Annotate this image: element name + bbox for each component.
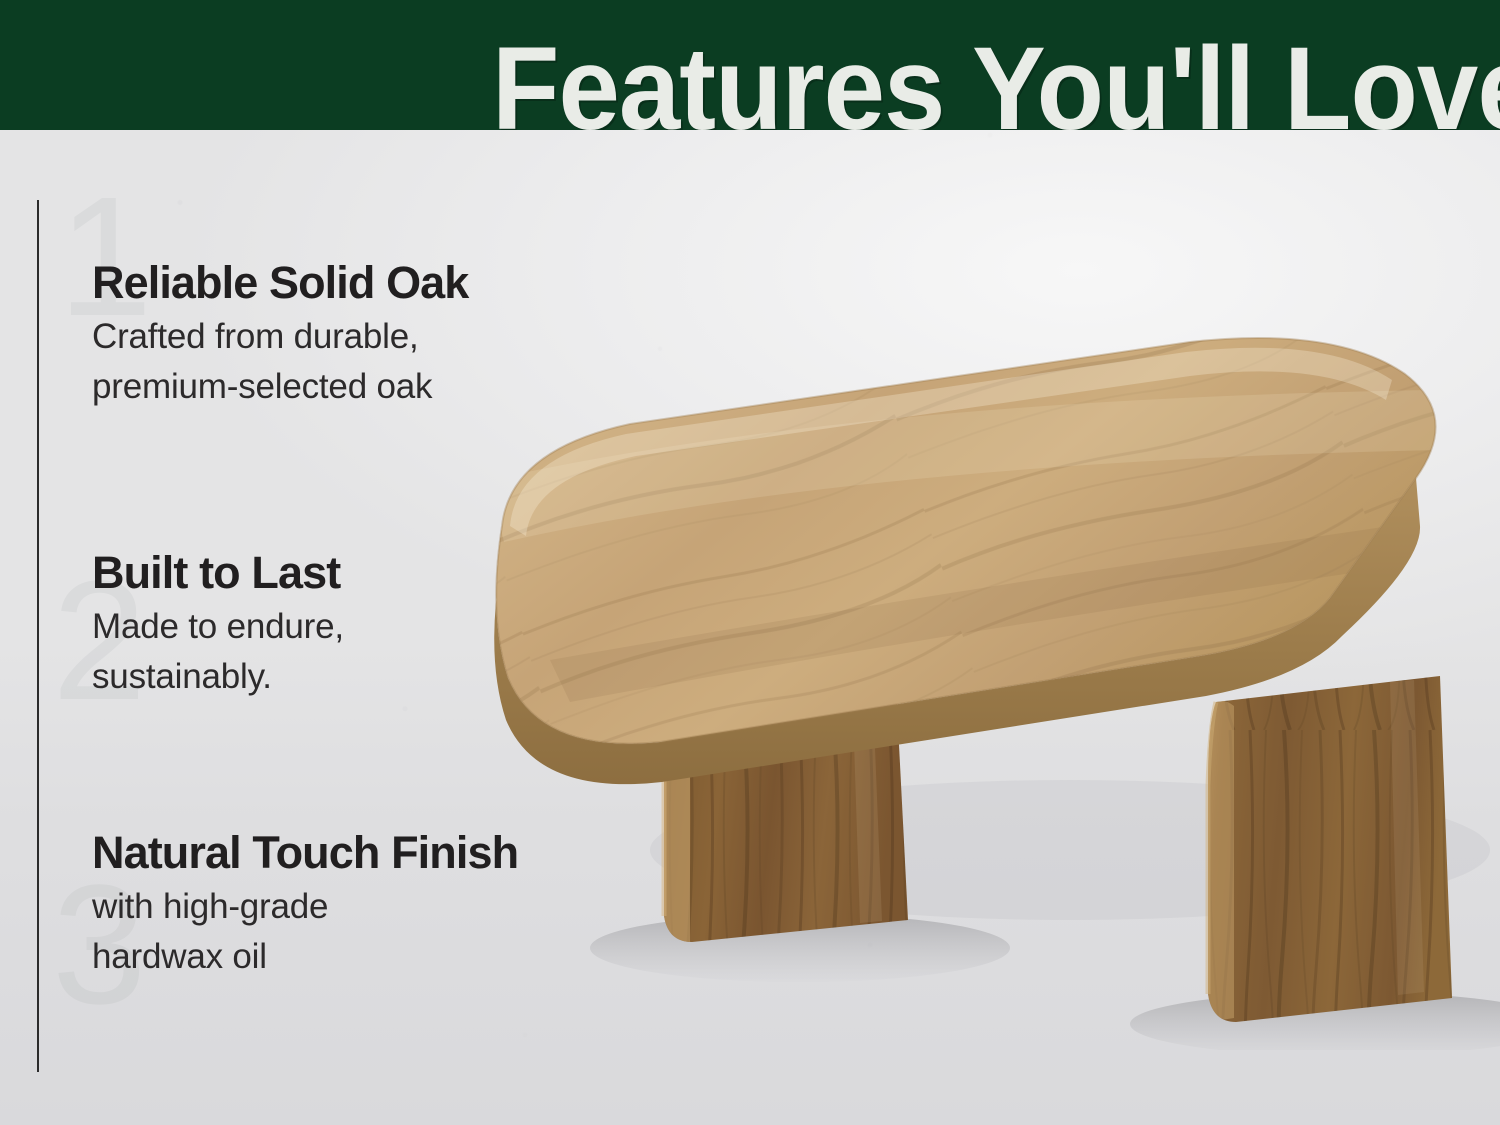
infographic-canvas: 1 2 3 (0, 0, 1500, 1125)
feature-title: Reliable Solid Oak (92, 258, 692, 308)
feature-description: Crafted from durable, premium-selected o… (92, 312, 692, 411)
feature-description: Made to endure, sustainably. (92, 602, 692, 701)
table-leg-right (1200, 670, 1470, 1040)
feature-item-built-to-last: Built to Last Made to endure, sustainabl… (92, 548, 692, 702)
header-band: Features You'll Love (0, 0, 1500, 130)
feature-item-natural-touch-finish: Natural Touch Finish with high-grade har… (92, 828, 692, 982)
feature-title: Built to Last (92, 548, 692, 598)
feature-item-reliable-solid-oak: Reliable Solid Oak Crafted from durable,… (92, 258, 692, 412)
feature-list-divider (37, 200, 39, 1072)
feature-description: with high-grade hardwax oil (92, 882, 692, 981)
page-title: Features You'll Love (492, 33, 1500, 130)
feature-title: Natural Touch Finish (92, 828, 692, 878)
